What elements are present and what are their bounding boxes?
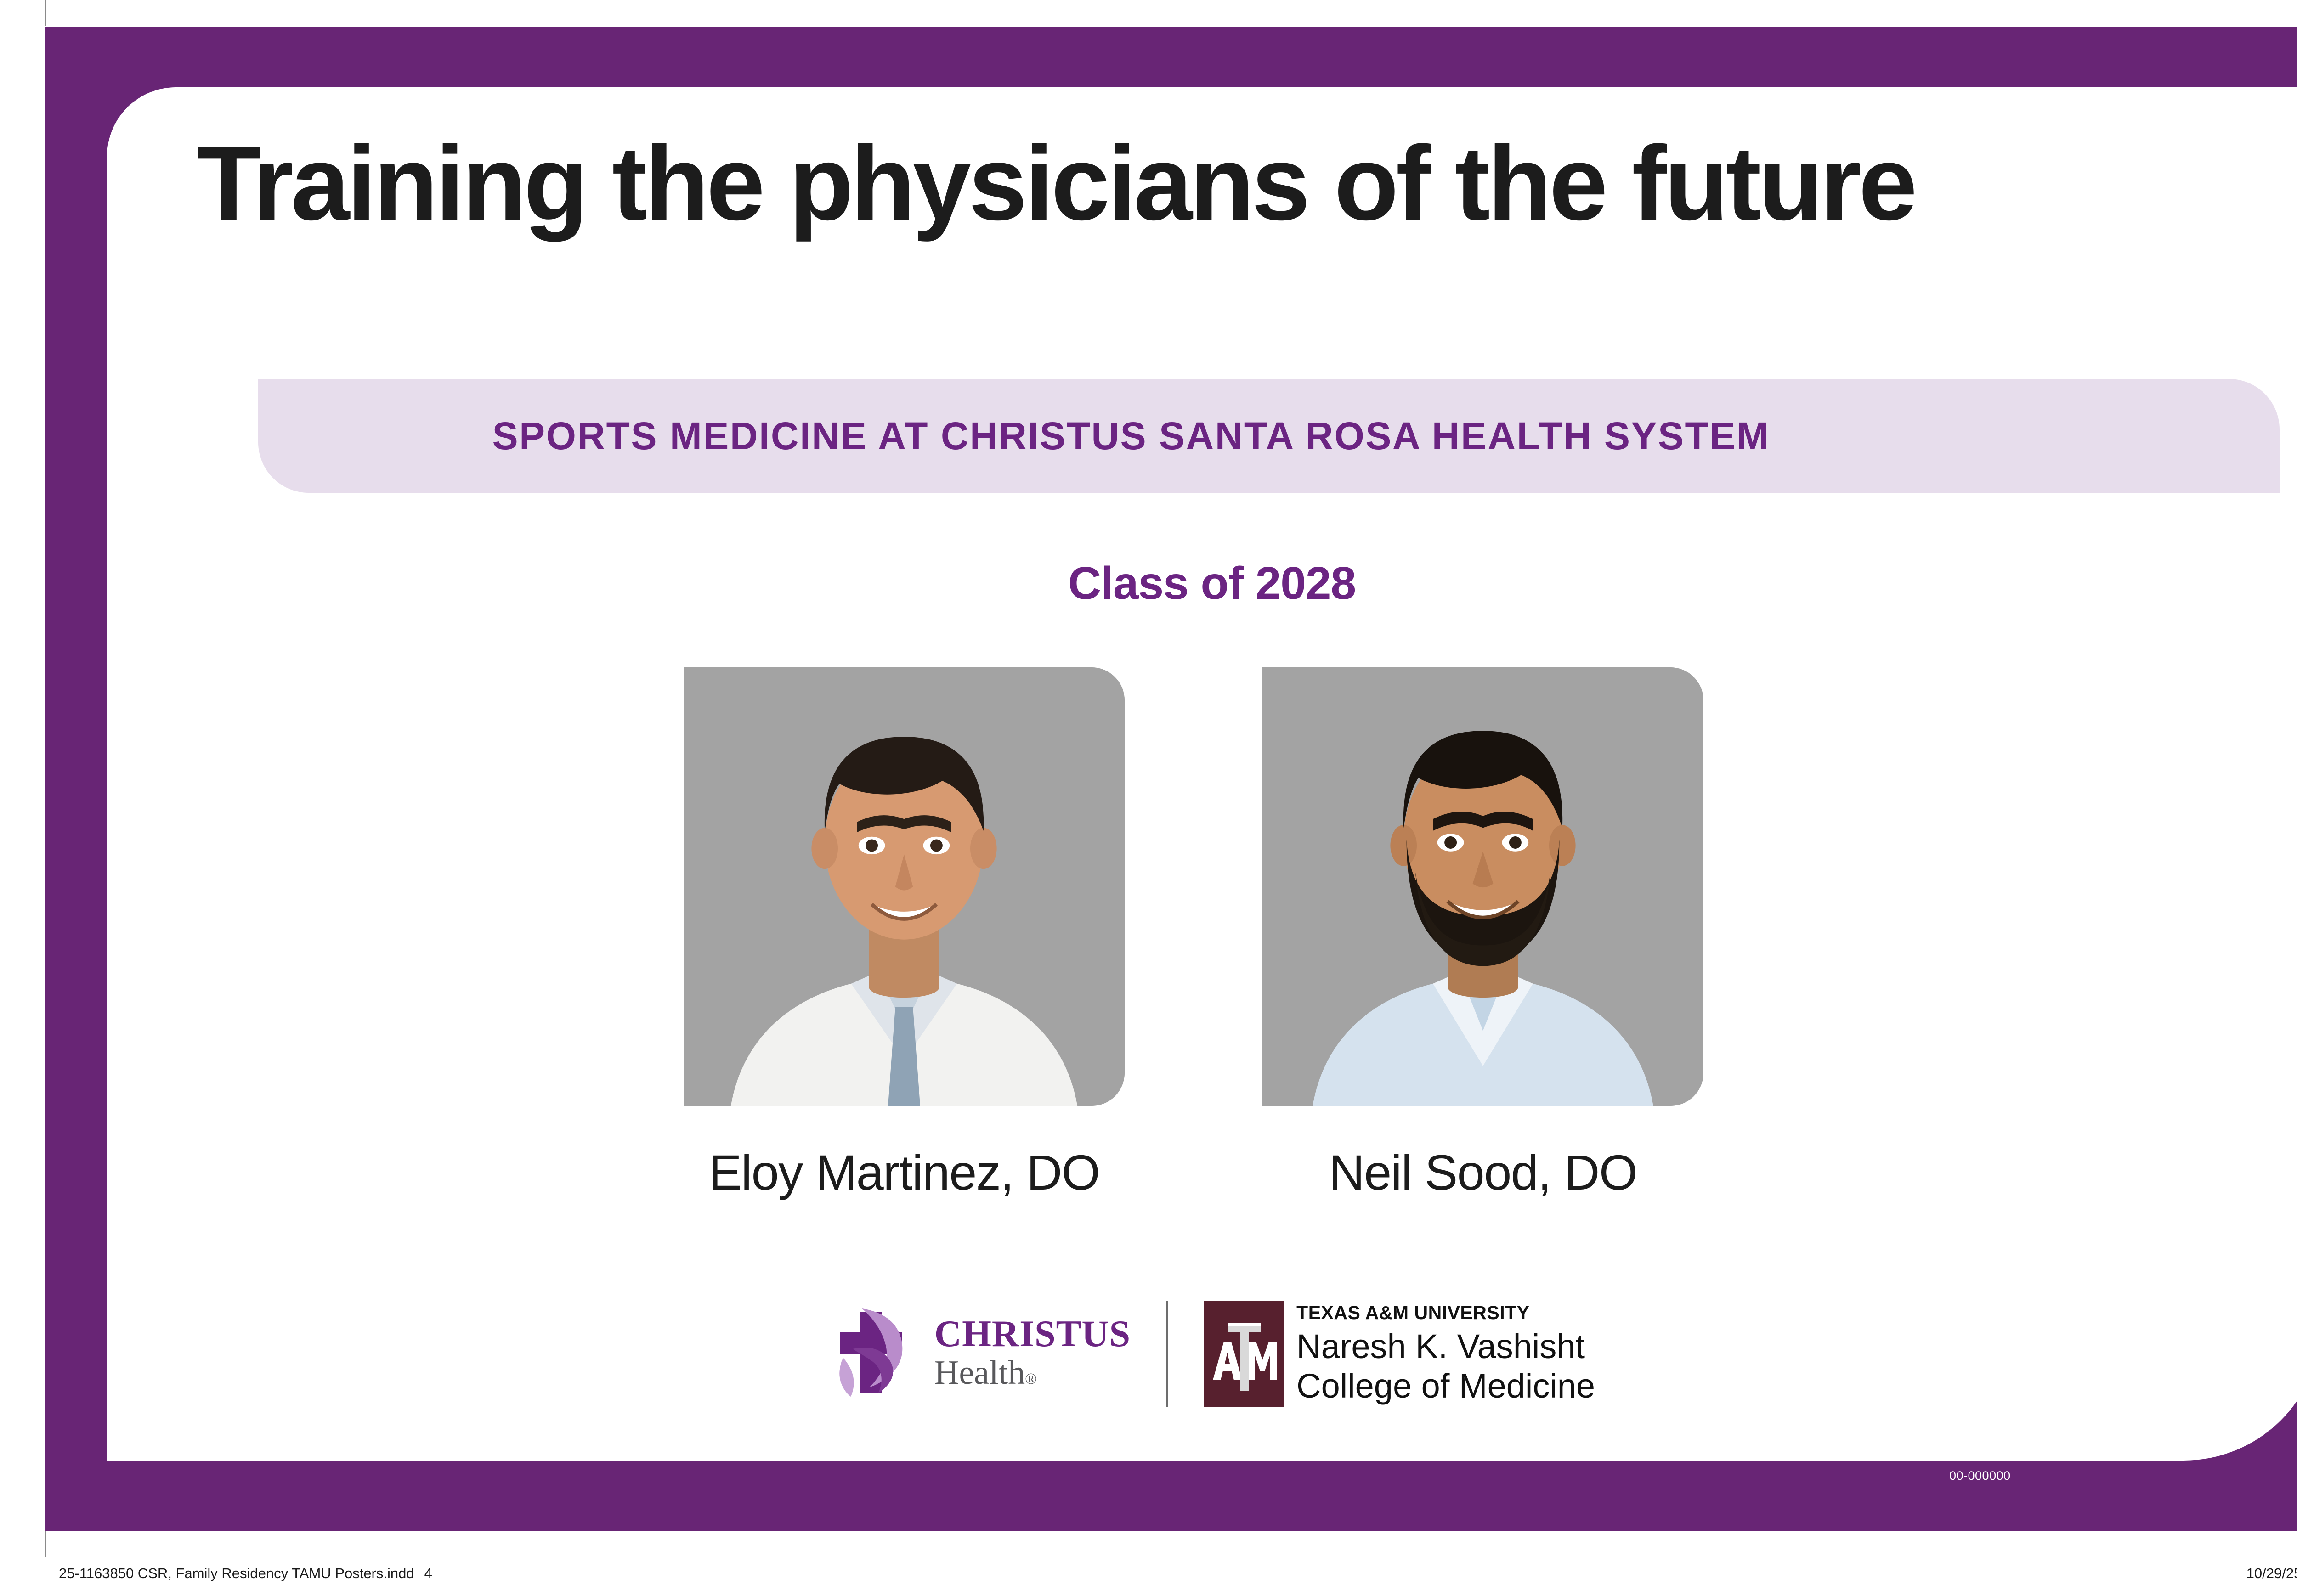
- list-item: Neil Sood, DO: [1262, 667, 1703, 1201]
- texas-am-logo: TEXAS A&M UNIVERSITY Naresh K. Vashisht …: [1204, 1301, 1595, 1407]
- tamu-wordmark: TEXAS A&M UNIVERSITY Naresh K. Vashisht …: [1296, 1303, 1595, 1406]
- avatar: [1262, 667, 1703, 1106]
- christus-health-logo: CHRISTUS Health®: [829, 1305, 1131, 1404]
- christus-wordmark: CHRISTUS Health®: [934, 1315, 1131, 1393]
- avatar: [684, 667, 1125, 1106]
- page-title: Training the physicians of the future: [197, 128, 2218, 239]
- christus-cross-icon: [829, 1305, 921, 1404]
- resident-list: Eloy Martinez, DO: [684, 667, 1795, 1201]
- tamu-monogram-icon: [1204, 1301, 1284, 1407]
- print-sheet: Training the physicians of the future SP…: [0, 0, 2297, 1596]
- subtitle-banner-label: SPORTS MEDICINE AT CHRISTUS SANTA ROSA H…: [258, 379, 2004, 493]
- subtitle-banner: SPORTS MEDICINE AT CHRISTUS SANTA ROSA H…: [258, 379, 2280, 493]
- job-code: 00-000000: [1949, 1469, 2011, 1483]
- class-label: Class of 2028: [45, 557, 2297, 610]
- registered-mark-icon: ®: [1025, 1370, 1037, 1387]
- logo-lockup: CHRISTUS Health®: [45, 1301, 2297, 1407]
- tamu-college-line-2: College of Medicine: [1296, 1366, 1595, 1406]
- christus-secondary-word: Health®: [934, 1353, 1131, 1393]
- crop-mark-top-left: [45, 0, 46, 26]
- christus-primary-word: CHRISTUS: [934, 1315, 1131, 1353]
- sheet-file-info: 25-1163850 CSR, Family Residency TAMU Po…: [59, 1565, 432, 1582]
- list-item-label: Eloy Martinez, DO: [684, 1144, 1125, 1201]
- crop-mark-bottom-left: [45, 1529, 46, 1557]
- list-item-label: Neil Sood, DO: [1262, 1144, 1703, 1201]
- tamu-college-line-1: Naresh K. Vashisht: [1296, 1327, 1595, 1366]
- logo-divider: [1166, 1301, 1168, 1407]
- sheet-timestamp: 10/29/2511:39 AM: [2246, 1565, 2297, 1582]
- list-item: Eloy Martinez, DO: [684, 667, 1125, 1201]
- poster-canvas: Training the physicians of the future SP…: [45, 27, 2297, 1531]
- tamu-university-line: TEXAS A&M UNIVERSITY: [1296, 1303, 1595, 1323]
- sheet-page-number: 4: [424, 1565, 432, 1581]
